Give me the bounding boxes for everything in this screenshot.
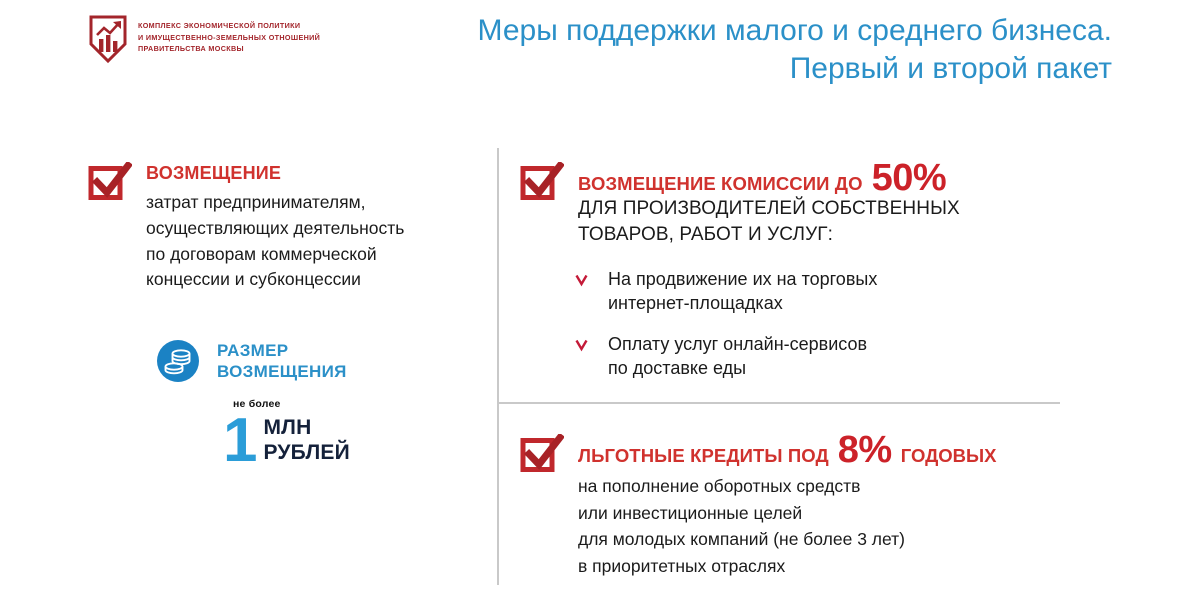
commission-heading-value: 50% [872, 162, 947, 195]
amount-label: РАЗМЕР ВОЗМЕЩЕНИЯ [217, 338, 347, 383]
bullet-text: На продвижение их на торговых интернет-п… [608, 268, 877, 315]
commission-heading-text: ВОЗМЕЩЕНИЕ КОМИССИИ ДО [578, 173, 863, 195]
block-reimbursement-lines: затрат предпринимателям, осуществляющих … [146, 190, 488, 294]
block-reimbursement: ВОЗМЕЩЕНИЕ затрат предпринимателям, осущ… [88, 160, 488, 293]
logo-line-1: Комплекс экономической политики [138, 20, 320, 32]
slide-canvas: Комплекс экономической политики и имущес… [0, 0, 1200, 600]
amount-unit-line-2: РУБЛЕЙ [263, 441, 349, 466]
commission-subtitle: ДЛЯ ПРОИЗВОДИТЕЛЕЙ СОБСТВЕННЫХ ТОВАРОВ, … [578, 196, 1080, 248]
slide-header: Комплекс экономической политики и имущес… [0, 0, 1200, 96]
chevron-down-icon [575, 274, 588, 287]
credits-lines: на пополнение оборотных средств или инве… [578, 473, 1090, 579]
commission-bullet-list: На продвижение их на торговых интернет-п… [520, 268, 1080, 380]
amount-unit-line-1: МЛН [263, 416, 349, 441]
shield-chart-arrow-icon [88, 14, 128, 64]
bullet-2-line-1: Оплату услуг онлайн-сервисов [608, 333, 867, 356]
page-title-line-2: Первый и второй пакет [392, 50, 1112, 88]
credits-heading-value: 8% [838, 434, 892, 467]
coins-circle-icon [155, 338, 201, 384]
credits-line-1: на пополнение оборотных средств [578, 473, 1090, 500]
bullet-1-line-1: На продвижение их на торговых [608, 268, 877, 291]
credits-line-4: в приоритетных отраслях [578, 553, 1090, 580]
bullet-1-line-2: интернет-площадках [608, 292, 877, 315]
block-reimbursement-heading: ВОЗМЕЩЕНИЕ [146, 164, 488, 184]
list-item: На продвижение их на торговых интернет-п… [520, 268, 1080, 315]
list-item: Оплату услуг онлайн-сервисов по доставке… [520, 333, 1080, 380]
page-title: Меры поддержки малого и среднего бизнеса… [392, 12, 1112, 89]
chevron-down-icon [575, 339, 588, 352]
reimbursement-line-3: по договорам коммерческой [146, 242, 488, 268]
amount-note: не более [233, 398, 495, 410]
page-title-line-1: Меры поддержки малого и среднего бизнеса… [392, 12, 1112, 50]
logo-line-3: Правительства Москвы [138, 43, 320, 55]
block-commission: ВОЗМЕЩЕНИЕ КОМИССИИ ДО 50% ДЛЯ ПРОИЗВОДИ… [520, 160, 1080, 398]
amount-unit: МЛН РУБЛЕЙ [263, 416, 349, 466]
bullet-2-line-2: по доставке еды [608, 357, 867, 380]
reimbursement-line-4: концессии и субконцессии [146, 267, 488, 293]
block-reimbursement-amount: РАЗМЕР ВОЗМЕЩЕНИЯ не более 1 МЛН РУБЛЕЙ [155, 338, 495, 470]
credits-line-3: для молодых компаний (не более 3 лет) [578, 526, 1090, 553]
vertical-divider [497, 148, 499, 585]
reimbursement-line-2: осуществляющих деятельность [146, 216, 488, 242]
checkbox-checked-icon [520, 162, 564, 202]
amount-label-line-2: ВОЗМЕЩЕНИЯ [217, 361, 347, 382]
reimbursement-line-1: затрат предпринимателям, [146, 190, 488, 216]
credits-heading-suffix: ГОДОВЫХ [901, 445, 997, 467]
amount-value: 1 МЛН РУБЛЕЙ [223, 412, 495, 470]
horizontal-divider [499, 402, 1060, 404]
credits-heading-text: ЛЬГОТНЫЕ КРЕДИТЫ ПОД [578, 445, 829, 467]
block-credits: ЛЬГОТНЫЕ КРЕДИТЫ ПОД 8% ГОДОВЫХ на попол… [520, 432, 1090, 579]
checkbox-checked-icon [520, 434, 564, 474]
commission-caps-line-1: ДЛЯ ПРОИЗВОДИТЕЛЕЙ СОБСТВЕННЫХ [578, 196, 1080, 222]
checkbox-checked-icon [88, 162, 132, 202]
commission-heading: ВОЗМЕЩЕНИЕ КОМИССИИ ДО 50% [578, 162, 1080, 195]
bullet-text: Оплату услуг онлайн-сервисов по доставке… [608, 333, 867, 380]
amount-number: 1 [223, 412, 256, 470]
logo-line-2: и имущественно-земельных отношений [138, 32, 320, 44]
commission-caps-line-2: ТОВАРОВ, РАБОТ И УСЛУГ: [578, 222, 1080, 248]
organization-logo: Комплекс экономической политики и имущес… [88, 14, 320, 64]
credits-heading: ЛЬГОТНЫЕ КРЕДИТЫ ПОД 8% ГОДОВЫХ [578, 434, 1090, 467]
credits-line-2: или инвестиционные целей [578, 500, 1090, 527]
organization-name: Комплекс экономической политики и имущес… [138, 14, 320, 55]
amount-label-line-1: РАЗМЕР [217, 340, 347, 361]
